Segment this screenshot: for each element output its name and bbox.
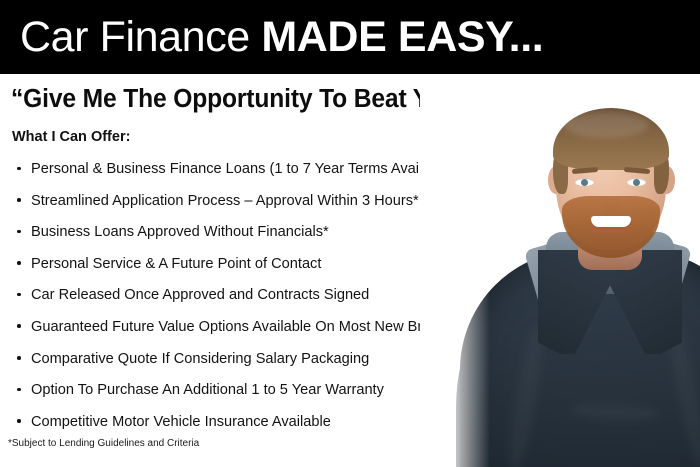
photo-lower-lip xyxy=(589,227,633,234)
footnote-disclaimer: *Subject to Lending Guidelines and Crite… xyxy=(8,437,199,451)
photo-mouth xyxy=(591,216,631,227)
list-item-label: Business Loans Approved Without Financia… xyxy=(31,221,329,243)
page-title: Car Finance MADE EASY... xyxy=(20,9,543,65)
bullet-icon xyxy=(17,356,21,360)
list-item-label: Comparative Quote If Considering Salary … xyxy=(31,348,369,370)
offer-heading: What I Can Offer: xyxy=(12,128,130,146)
bullet-icon xyxy=(17,324,21,328)
list-item: Comparative Quote If Considering Salary … xyxy=(0,348,455,380)
offer-list: Personal & Business Finance Loans (1 to … xyxy=(0,158,455,442)
list-item: Personal Service & A Future Point of Con… xyxy=(0,253,455,285)
advertisement-poster: Car Finance MADE EASY... “Give Me The Op… xyxy=(0,0,700,467)
list-item: Option To Purchase An Additional 1 to 5 … xyxy=(0,379,455,411)
header-bar: Car Finance MADE EASY... xyxy=(0,0,700,74)
list-item: Business Loans Approved Without Financia… xyxy=(0,221,455,253)
list-item: Guaranteed Future Value Options Availabl… xyxy=(0,316,455,348)
bullet-icon xyxy=(17,261,21,265)
page-title-light: Car Finance xyxy=(20,13,261,61)
bullet-icon xyxy=(17,230,21,234)
list-item: Streamlined Application Process – Approv… xyxy=(0,190,455,222)
list-item-label: Personal Service & A Future Point of Con… xyxy=(31,253,321,275)
portrait-photo xyxy=(420,74,700,467)
photo-pupil-right xyxy=(633,179,640,186)
list-item-label: Guaranteed Future Value Options Availabl… xyxy=(31,316,454,338)
list-item-label: Competitive Motor Vehicle Insurance Avai… xyxy=(31,411,331,433)
list-item-label: Personal & Business Finance Loans (1 to … xyxy=(31,158,455,180)
list-item: Car Released Once Approved and Contracts… xyxy=(0,284,455,316)
page-title-bold: MADE EASY... xyxy=(261,13,543,61)
bullet-icon xyxy=(17,167,21,171)
list-item: Personal & Business Finance Loans (1 to … xyxy=(0,158,455,190)
list-item-label: Streamlined Application Process – Approv… xyxy=(31,190,419,212)
bullet-icon xyxy=(17,419,21,423)
bullet-icon xyxy=(17,293,21,297)
photo-pupil-left xyxy=(581,179,588,186)
photo-hair xyxy=(553,108,669,170)
bullet-icon xyxy=(17,388,21,392)
bullet-icon xyxy=(17,198,21,202)
list-item-label: Car Released Once Approved and Contracts… xyxy=(31,284,369,306)
list-item-label: Option To Purchase An Additional 1 to 5 … xyxy=(31,379,384,401)
